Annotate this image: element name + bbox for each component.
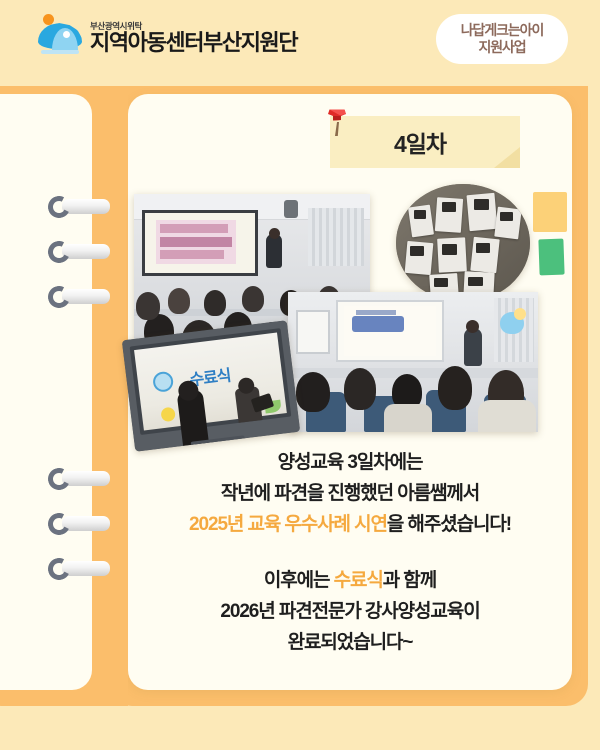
- paragraph-1-line-1: 양성교육 3일차에는: [128, 448, 572, 479]
- plain-text: 2026년 파견전문가 강사양성교육이: [220, 601, 479, 622]
- body-copy: 양성교육 3일차에는작년에 파견을 진행했던 아름쌤께서2025년 교육 우수사…: [128, 448, 572, 685]
- page-header: 부산광역시위탁 지역아동센터부산지원단 나답게크는아이 지원사업: [0, 0, 600, 86]
- logo-kicker: 부산광역시위탁: [90, 22, 297, 31]
- logo-text-group: 부산광역시위탁 지역아동센터부산지원단: [90, 22, 297, 55]
- highlighted-text: 2025년 교육 우수사례 시연: [189, 514, 387, 535]
- spiral-binder-ring-icon: [48, 196, 110, 218]
- spiral-binder-ring-icon: [48, 468, 110, 490]
- plain-text: 이후에는: [264, 570, 334, 591]
- program-badge[interactable]: 나답게크는아이 지원사업: [436, 14, 568, 64]
- plain-text: 을 해주셨습니다!: [387, 514, 511, 535]
- organization-logo[interactable]: 부산광역시위탁 지역아동센터부산지원단: [38, 14, 297, 54]
- day-tab-label: 4일차: [330, 116, 520, 168]
- spiral-binder-ring-icon: [48, 286, 110, 308]
- plain-text: 양성교육 3일차에는: [278, 452, 423, 473]
- paragraph-1: 양성교육 3일차에는작년에 파견을 진행했던 아름쌤께서2025년 교육 우수사…: [128, 448, 572, 540]
- plain-text: 작년에 파견을 진행했던 아름쌤께서: [221, 483, 479, 504]
- paragraph-2-line-1: 이후에는 수료식과 함께: [128, 566, 572, 597]
- program-badge-line1: 나답게크는아이: [436, 22, 568, 39]
- spiral-binder-ring-icon: [48, 241, 110, 263]
- photo-collage: 수료식: [128, 182, 538, 432]
- plain-text: 완료되었습니다~: [288, 632, 413, 653]
- photo-presentation-classroom: [288, 292, 538, 432]
- paragraph-2: 이후에는 수료식과 함께2026년 파견전문가 강사양성교육이완료되었습니다~: [128, 566, 572, 658]
- paragraph-2-line-3: 완료되었습니다~: [128, 628, 572, 659]
- spiral-binder-ring-icon: [48, 513, 110, 535]
- photo-completion-ceremony: 수료식: [122, 320, 300, 451]
- spiral-rings-bottom-group: [48, 468, 110, 603]
- paragraph-1-line-2: 작년에 파견을 진행했던 아름쌤께서: [128, 479, 572, 510]
- highlighted-text: 수료식: [334, 570, 383, 591]
- logo-title: 지역아동센터부산지원단: [90, 32, 297, 54]
- paragraph-2-line-2: 2026년 파견전문가 강사양성교육이: [128, 597, 572, 628]
- red-pushpin-icon: [324, 105, 350, 137]
- spiral-rings-top-group: [48, 196, 110, 331]
- day-tab-banner: 4일차: [330, 116, 520, 168]
- plain-text: 과 함께: [383, 570, 436, 591]
- paragraph-1-line-3: 2025년 교육 우수사례 시연을 해주셨습니다!: [128, 510, 572, 541]
- whale-child-logo-icon: [38, 14, 82, 54]
- photo-materials-circle: [396, 184, 530, 302]
- program-badge-line2: 지원사업: [436, 39, 568, 56]
- green-square-decoration: [538, 239, 564, 276]
- notebook-spine: [92, 86, 128, 706]
- yellow-square-decoration: [533, 192, 567, 232]
- spiral-binder-ring-icon: [48, 558, 110, 580]
